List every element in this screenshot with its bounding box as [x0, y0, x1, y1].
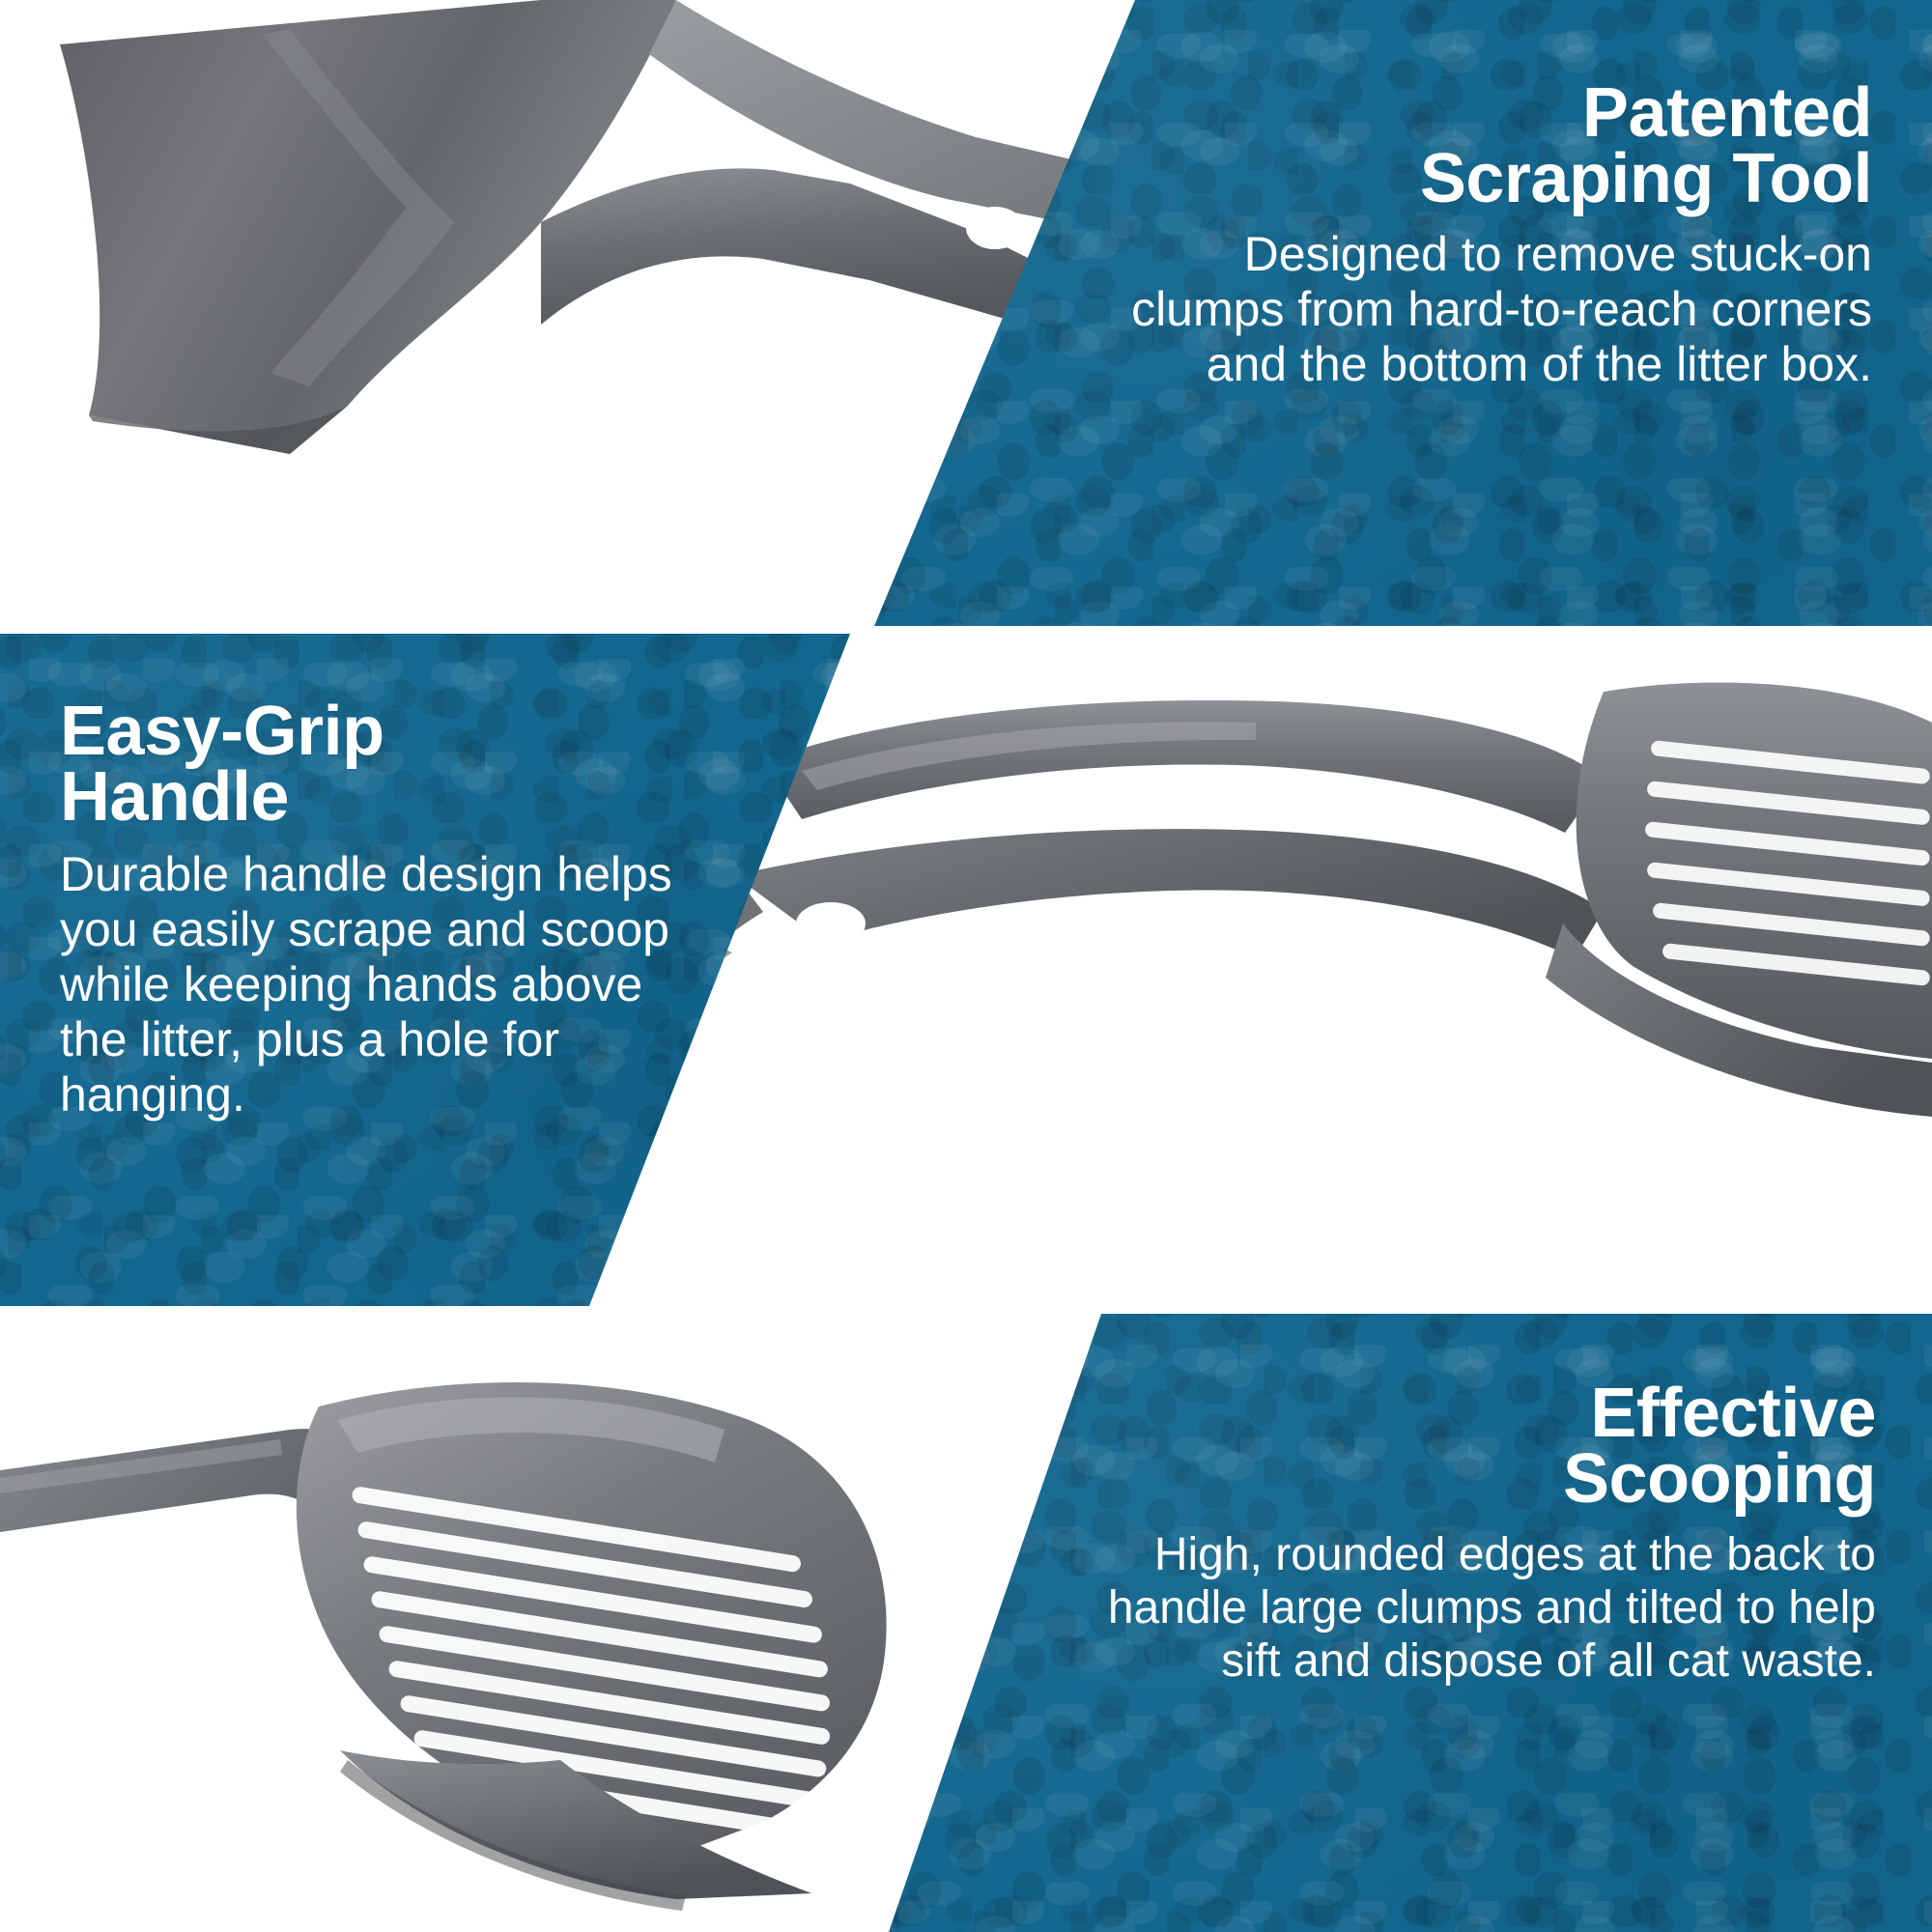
feature-panel-patented-scraping-tool: Patented Scraping Tool Designed to remov… [0, 0, 1932, 626]
panel-3-heading-line2: Scooping [1084, 1447, 1876, 1513]
panel-2-heading: Easy-Grip Handle [60, 699, 678, 830]
panel-3-heading-line1: Effective [1084, 1381, 1876, 1447]
panel-2-heading-line1: Easy-Grip [60, 699, 678, 765]
product-feature-infographic: Patented Scraping Tool Designed to remov… [0, 0, 1932, 1932]
panel-1-body: Designed to remove stuck-on clumps from … [1099, 227, 1872, 392]
panel-1-heading-line2: Scraping Tool [1099, 147, 1872, 213]
feature-panel-easy-grip-handle: Easy-Grip Handle Durable handle design h… [0, 634, 1932, 1306]
panel-3-body: High, rounded edges at the back to handl… [1084, 1529, 1876, 1688]
panel-3-text-block: Effective Scooping High, rounded edges a… [1084, 1381, 1876, 1689]
panel-1-heading: Patented Scraping Tool [1099, 81, 1872, 212]
panel-1-text-block: Patented Scraping Tool Designed to remov… [1099, 81, 1872, 392]
panel-2-body: Durable handle design helps you easily s… [60, 847, 678, 1122]
feature-panel-effective-scooping: Effective Scooping High, rounded edges a… [0, 1314, 1932, 1932]
panel-2-text-block: Easy-Grip Handle Durable handle design h… [60, 699, 678, 1122]
panel-2-heading-line2: Handle [60, 765, 678, 831]
panel-3-heading: Effective Scooping [1084, 1381, 1876, 1512]
panel-1-heading-line1: Patented [1099, 81, 1872, 147]
